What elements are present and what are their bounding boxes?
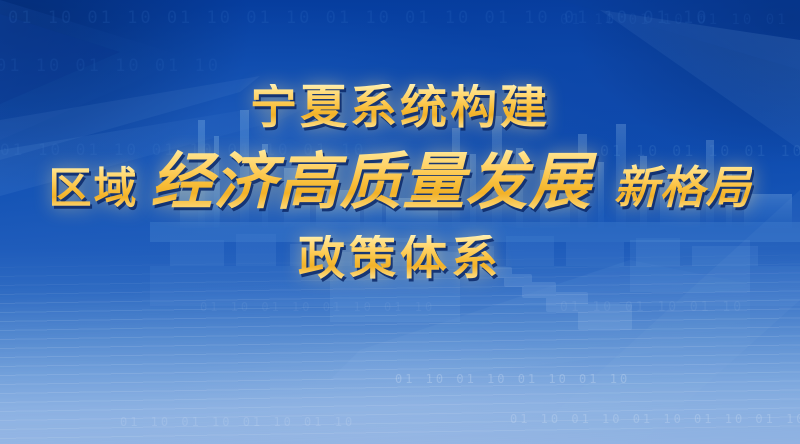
headline-line-2-middle: 经济高质量发展 xyxy=(138,145,603,218)
headline-line-2-left-wrap: 区域 xyxy=(48,168,138,211)
headline-line-1: 宁夏系统构建 xyxy=(250,84,550,131)
headline-line-3-wrap: 政策体系 xyxy=(298,213,502,282)
headline-line-2-left: 区域 xyxy=(48,164,138,214)
headline-line-3: 政策体系 xyxy=(298,235,502,282)
policy-banner: 01 10 01 10 01 10 01 10 01 10 01 10 01 1… xyxy=(0,0,800,444)
headline-line-2-right: 新格局 xyxy=(604,161,752,214)
headline-line-1-wrap: 宁夏系统构建 xyxy=(250,84,550,131)
headline-block: 宁夏系统构建 区域 经济高质量发展 新格局 政策体系 xyxy=(0,0,800,444)
headline-line-2-middle-wrap: 经济高质量发展 xyxy=(138,151,603,213)
headline-line-2-right-wrap: 新格局 xyxy=(604,165,752,210)
headline-line-2: 区域 经济高质量发展 新格局 xyxy=(48,151,751,213)
